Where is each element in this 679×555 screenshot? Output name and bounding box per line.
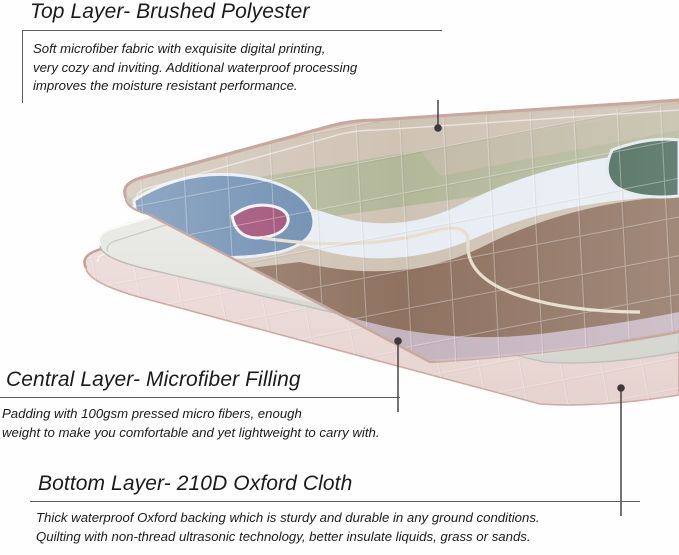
callout-central-body-line: weight to make you comfortable and yet l… <box>2 424 400 443</box>
callout-bottom-body-line: Quilting with non-thread ultrasonic tech… <box>36 528 640 547</box>
callout-bottom-body-line: Thick waterproof Oxford backing which is… <box>36 509 640 528</box>
callout-top-body: Soft microfiber fabric with exquisite di… <box>23 31 442 96</box>
callout-central-body: Padding with 100gsm pressed micro fibers… <box>0 398 400 442</box>
callout-top-box: Soft microfiber fabric with exquisite di… <box>22 30 442 103</box>
callout-bottom-layer: Bottom Layer- 210D Oxford Cloth Thick wa… <box>30 472 640 546</box>
callout-bottom-title: Bottom Layer- 210D Oxford Cloth <box>38 472 640 496</box>
central-layer-shape <box>99 118 679 363</box>
infographic-canvas: Top Layer- Brushed Polyester Soft microf… <box>0 0 679 555</box>
callout-bottom-body: Thick waterproof Oxford backing which is… <box>30 502 640 546</box>
callout-top-layer: Top Layer- Brushed Polyester Soft microf… <box>22 0 442 103</box>
callout-central-body-line: Padding with 100gsm pressed micro fibers… <box>2 405 400 424</box>
callout-top-body-line: Soft microfiber fabric with exquisite di… <box>33 40 442 59</box>
callout-top-body-line: very cozy and inviting. Additional water… <box>33 59 442 78</box>
callout-central-layer: Central Layer- Microfiber Filling Paddin… <box>0 368 400 442</box>
bottom-layer-shape <box>85 140 679 405</box>
leader-line-top <box>435 100 441 131</box>
callout-central-title: Central Layer- Microfiber Filling <box>6 368 400 392</box>
callout-top-title: Top Layer- Brushed Polyester <box>30 0 442 24</box>
top-layer-shape <box>100 90 679 380</box>
callout-top-body-line: improves the moisture resistant performa… <box>33 77 442 96</box>
